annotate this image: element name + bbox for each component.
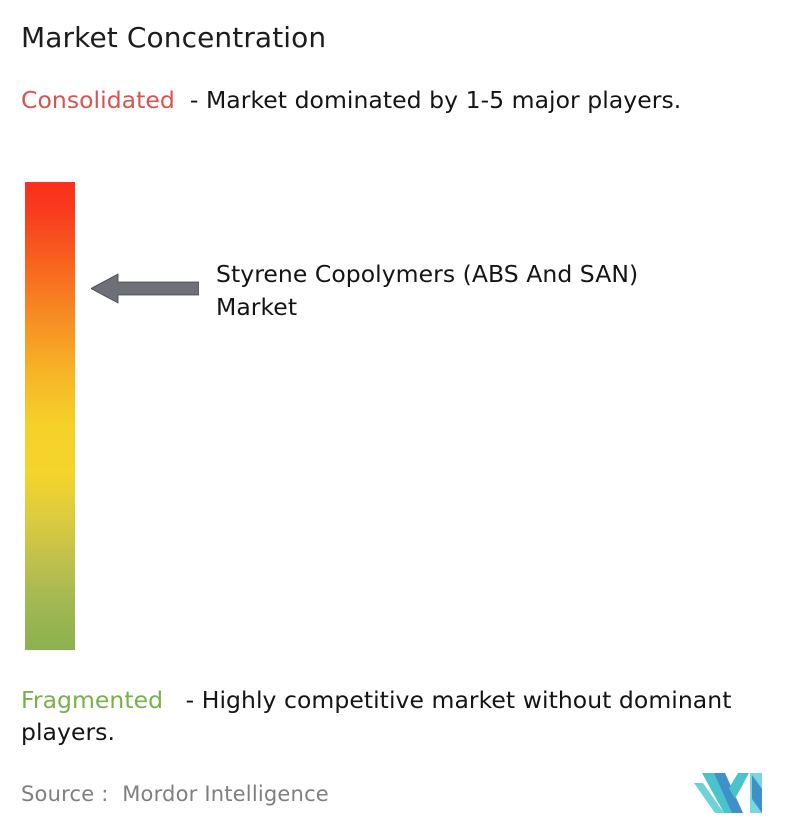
legend-key-fragmented: Fragmented bbox=[21, 686, 163, 714]
legend-description-consolidated: Market dominated by 1-5 major players. bbox=[206, 86, 681, 114]
page-title: Market Concentration bbox=[21, 20, 326, 56]
legend-consolidated: Consolidated - Market dominated by 1-5 m… bbox=[21, 84, 783, 116]
left-arrow-icon bbox=[91, 272, 199, 305]
legend-key-consolidated: Consolidated bbox=[21, 86, 175, 114]
legend-fragmented: Fragmented - Highly competitive market w… bbox=[21, 684, 783, 748]
mordor-intelligence-logo-icon bbox=[694, 769, 768, 813]
market-concentration-infographic: Market Concentration Consolidated - Mark… bbox=[0, 0, 796, 834]
concentration-scale-bar bbox=[25, 182, 75, 650]
legend-separator-fragmented: - bbox=[163, 686, 202, 714]
legend-separator-consolidated: - bbox=[175, 86, 206, 114]
market-label: Styrene Copolymers (ABS And SAN) Market bbox=[216, 258, 646, 324]
source-attribution: Source : Mordor Intelligence bbox=[21, 780, 329, 808]
